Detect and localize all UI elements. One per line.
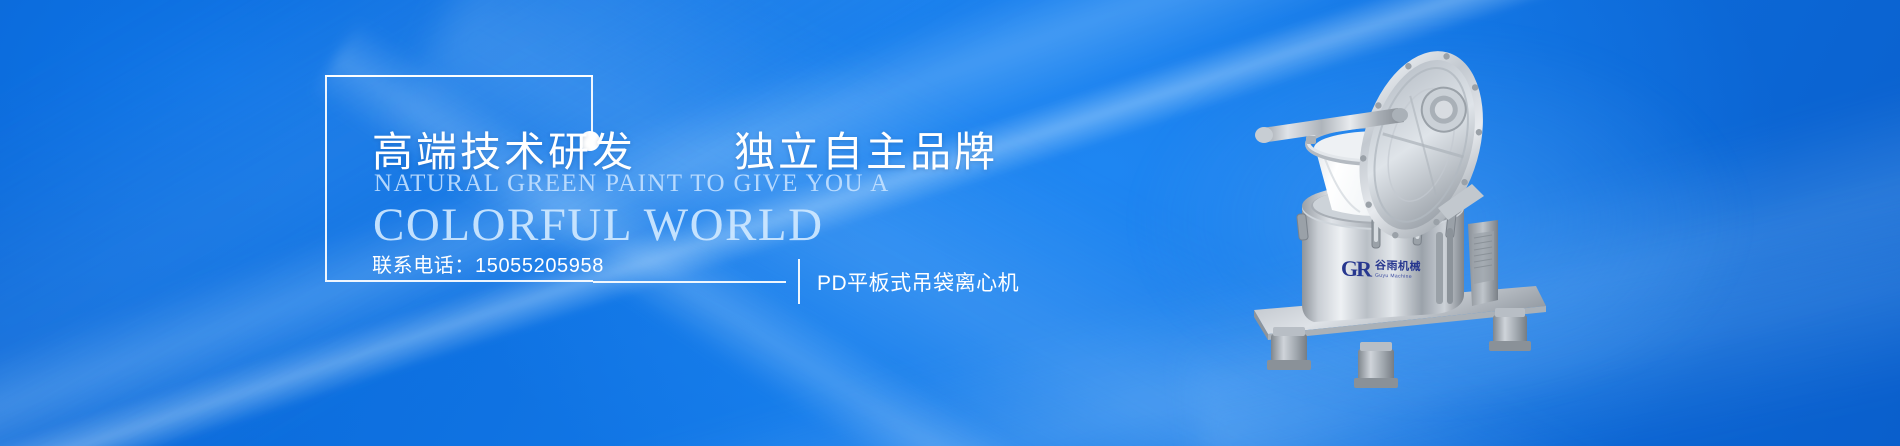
logo-name-en: Guyu Machine xyxy=(1375,274,1421,281)
tagline-english: COLORFUL WORLD xyxy=(373,198,824,252)
brand-logo-badge: GR 谷雨机械 Guyu Machine xyxy=(1341,251,1429,288)
caption-connector-vertical xyxy=(798,259,800,304)
logo-name-cn: 谷雨机械 xyxy=(1375,261,1421,274)
promo-banner: 高端技术研发独立自主品牌 NATURAL GREEN PAINT TO GIVE… xyxy=(0,0,1900,446)
headline-part-1: 高端技术研发 xyxy=(372,129,636,175)
product-caption: PD平板式吊袋离心机 xyxy=(817,267,1019,297)
product-image-centrifuge xyxy=(1240,18,1660,428)
bracket-top-line xyxy=(325,75,593,77)
headline: 高端技术研发独立自主品牌 xyxy=(372,118,998,178)
subtitle-english: NATURAL GREEN PAINT TO GIVE YOU A xyxy=(374,170,890,198)
contact-phone[interactable]: 联系电话：15055205958 xyxy=(372,249,604,278)
caption-connector-horizontal xyxy=(593,281,786,283)
headline-part-2: 独立自主品牌 xyxy=(734,129,998,175)
logo-monogram: GR xyxy=(1341,257,1370,280)
